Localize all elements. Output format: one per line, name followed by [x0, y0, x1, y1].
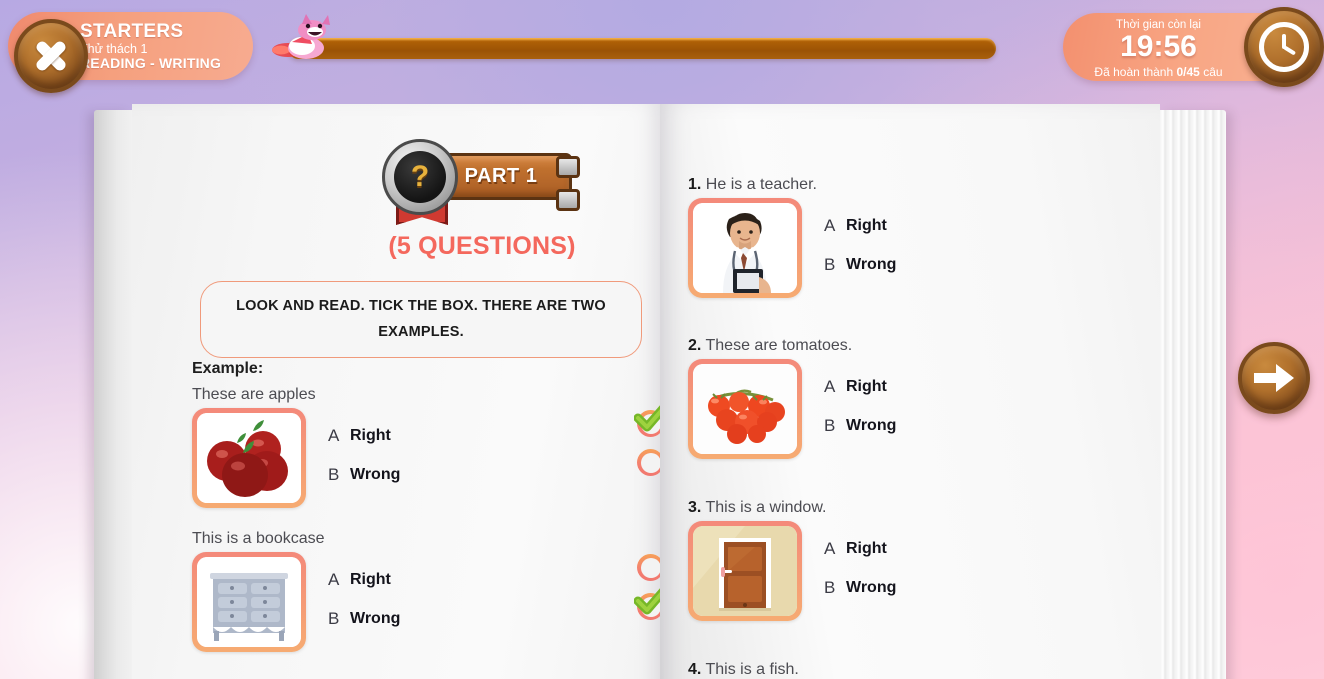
- question-sentence: He is a teacher.: [706, 176, 817, 193]
- answer-label: Wrong: [846, 417, 896, 435]
- challenge-badge: STARTERS Thử thách 1 READING - WRITING: [8, 12, 253, 80]
- answer-label: Right: [846, 378, 887, 396]
- completed-prefix: Đã hoàn thành: [1094, 65, 1173, 79]
- answer-label: Right: [350, 571, 391, 589]
- radio-example1-b[interactable]: [637, 449, 660, 476]
- book: PART 1 ? (5 QUESTIONS) LOOK AND READ. TI…: [94, 104, 1226, 679]
- answer-label: Right: [350, 427, 391, 445]
- completed-counter: Đã hoàn thành 0/45 câu: [1063, 65, 1254, 79]
- answer-option-b[interactable]: B Wrong: [328, 455, 400, 494]
- radio-example2-b[interactable]: [637, 593, 660, 620]
- instruction-box: LOOK AND READ. TICK THE BOX. THERE ARE T…: [200, 281, 642, 358]
- question-number: 1.: [688, 176, 701, 193]
- answer-option-b[interactable]: B Wrong: [824, 568, 896, 607]
- answer-option-b[interactable]: B Wrong: [824, 406, 896, 445]
- doctor-image: [688, 198, 802, 298]
- completed-suffix: câu: [1203, 65, 1222, 79]
- question-text: 2. These are tomatoes.: [688, 337, 1158, 355]
- book-left-edge: [94, 110, 132, 679]
- questions-count: (5 QUESTIONS): [314, 232, 650, 261]
- clock-icon: [1244, 7, 1324, 87]
- part-badge: PART 1 ?: [382, 139, 578, 215]
- answer-option-a[interactable]: A Right: [328, 560, 400, 599]
- app-root: STARTERS Thử thách 1 READING - WRITING T…: [0, 0, 1324, 679]
- example-label: Example:: [192, 360, 263, 378]
- question-mark-medal-icon: ?: [382, 139, 458, 215]
- answer-label: Right: [846, 540, 887, 558]
- answer-letter: A: [328, 426, 350, 446]
- answer-label: Right: [846, 217, 887, 235]
- close-x-icon: [33, 38, 69, 74]
- door-image: [688, 521, 802, 621]
- question-text: 1. He is a teacher.: [688, 176, 1158, 194]
- answer-option-a[interactable]: A Right: [328, 416, 400, 455]
- level-title: STARTERS: [80, 21, 221, 42]
- answer-label: Wrong: [350, 466, 400, 484]
- question-item-1: 1. He is a teacher.: [688, 176, 1158, 298]
- answer-option-b[interactable]: B Wrong: [328, 599, 400, 638]
- close-button[interactable]: [14, 19, 88, 93]
- answer-list: A Right B Wrong: [824, 521, 896, 607]
- question-text: 3. This is a window.: [688, 499, 1158, 517]
- answer-letter: B: [328, 465, 350, 485]
- answer-letter: B: [328, 609, 350, 629]
- answer-list: A Right B Wrong: [328, 408, 400, 494]
- answer-option-b[interactable]: B Wrong: [824, 245, 896, 284]
- book-page-left: PART 1 ? (5 QUESTIONS) LOOK AND READ. TI…: [132, 104, 660, 679]
- answer-letter: A: [328, 570, 350, 590]
- answer-option-a[interactable]: A Right: [824, 529, 896, 568]
- example-item-apples: These are apples: [192, 386, 660, 508]
- question-sentence: These are tomatoes.: [706, 337, 853, 354]
- example-item-bookcase: This is a bookcase: [192, 530, 660, 652]
- answer-letter: B: [824, 255, 846, 275]
- answer-list: A Right B Wrong: [328, 552, 400, 638]
- question-sentence: This is a fish.: [706, 661, 799, 678]
- answer-letter: B: [824, 578, 846, 598]
- answer-letter: B: [824, 416, 846, 436]
- answer-letter: A: [824, 377, 846, 397]
- book-right-edge: [1160, 110, 1226, 679]
- challenge-subtitle: Thử thách 1: [80, 42, 221, 56]
- timer-value: 19:56: [1063, 32, 1254, 62]
- question-item-3: 3. This is a window.: [688, 499, 1158, 621]
- timer-label: Thời gian còn lại: [1063, 13, 1254, 31]
- arrow-right-icon: [1252, 361, 1296, 395]
- answer-label: Wrong: [846, 579, 896, 597]
- question-mark-glyph: ?: [411, 160, 429, 194]
- plank-bolt-bottom: [556, 189, 580, 211]
- answer-letter: A: [824, 539, 846, 559]
- answer-option-a[interactable]: A Right: [824, 367, 896, 406]
- answer-label: Wrong: [846, 256, 896, 274]
- rocket-mascot-icon: [272, 12, 340, 68]
- question-number: 4.: [688, 661, 701, 678]
- part-label: PART 1: [455, 165, 538, 188]
- question-item-4: 4. This is a fish.: [688, 661, 1158, 679]
- radio-example2-a[interactable]: [637, 554, 660, 581]
- next-button[interactable]: [1238, 342, 1310, 414]
- question-text: 4. This is a fish.: [688, 661, 1158, 679]
- question-sentence: This is a window.: [706, 499, 827, 516]
- progress-bar: [288, 38, 996, 59]
- completed-count: 0/45: [1177, 65, 1200, 79]
- question-item-2: 2. These are tomatoes.: [688, 337, 1158, 459]
- book-page-right: 1. He is a teacher.: [660, 104, 1160, 679]
- question-number: 3.: [688, 499, 701, 516]
- plank-bolt-top: [556, 156, 580, 178]
- question-number: 2.: [688, 337, 701, 354]
- answer-list: A Right B Wrong: [824, 359, 896, 445]
- example-text: These are apples: [192, 386, 660, 404]
- radio-example1-a[interactable]: [637, 410, 660, 437]
- answer-letter: A: [824, 216, 846, 236]
- dresser-image: [192, 552, 306, 652]
- timer-panel: Thời gian còn lại 19:56 Đã hoàn thành 0/…: [1063, 13, 1306, 81]
- apples-image: [192, 408, 306, 508]
- answer-list: A Right B Wrong: [824, 198, 896, 284]
- tomatoes-image: [688, 359, 802, 459]
- answer-label: Wrong: [350, 610, 400, 628]
- answer-option-a[interactable]: A Right: [824, 206, 896, 245]
- mode-label: READING - WRITING: [80, 56, 221, 72]
- example-text: This is a bookcase: [192, 530, 660, 548]
